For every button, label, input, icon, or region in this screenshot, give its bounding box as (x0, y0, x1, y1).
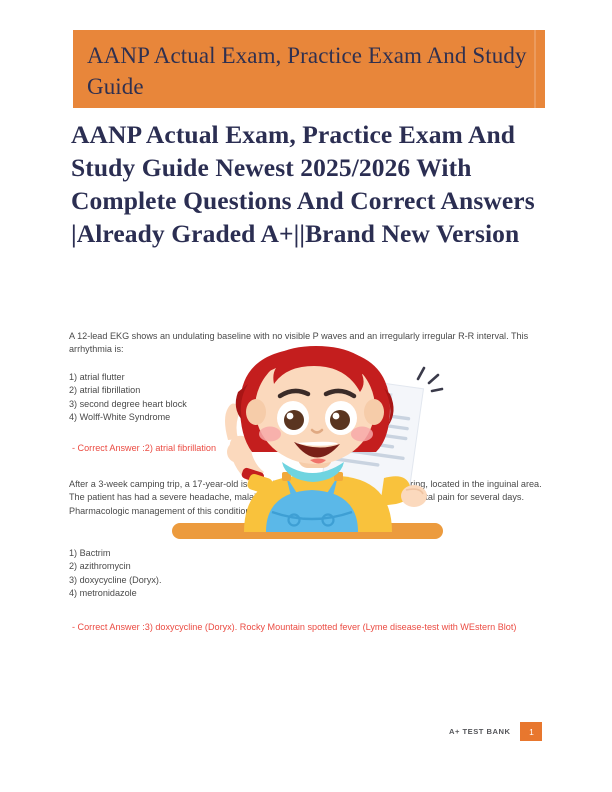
question-options: 1) Bactrim 2) azithromycin 3) doxycyclin… (69, 547, 544, 601)
orange-highlight-bar (172, 523, 443, 539)
document-title: AANP Actual Exam, Practice Exam And Stud… (71, 118, 549, 250)
footer-brand-label: A+ TEST BANK (449, 727, 510, 736)
header-banner-title: AANP Actual Exam, Practice Exam And Stud… (87, 40, 529, 102)
correct-answer: - Correct Answer :2) atrial fibrillation (72, 442, 544, 455)
question-stem: After a 3-week camping trip, a 17-year-o… (69, 478, 544, 518)
question-options: 1) atrial flutter 2) atrial fibrillation… (69, 371, 544, 425)
document-body: A 12-lead EKG shows an undulating baseli… (69, 330, 544, 634)
header-banner: AANP Actual Exam, Practice Exam And Stud… (73, 30, 545, 108)
question-block-1: A 12-lead EKG shows an undulating baseli… (69, 330, 544, 456)
page-number-badge: 1 (520, 722, 542, 741)
footer: A+ TEST BANK 1 (449, 722, 542, 741)
correct-answer: - Correct Answer :3) doxycycline (Doryx)… (72, 621, 544, 634)
question-stem: A 12-lead EKG shows an undulating baseli… (69, 330, 544, 357)
question-block-2: After a 3-week camping trip, a 17-year-o… (69, 478, 544, 634)
